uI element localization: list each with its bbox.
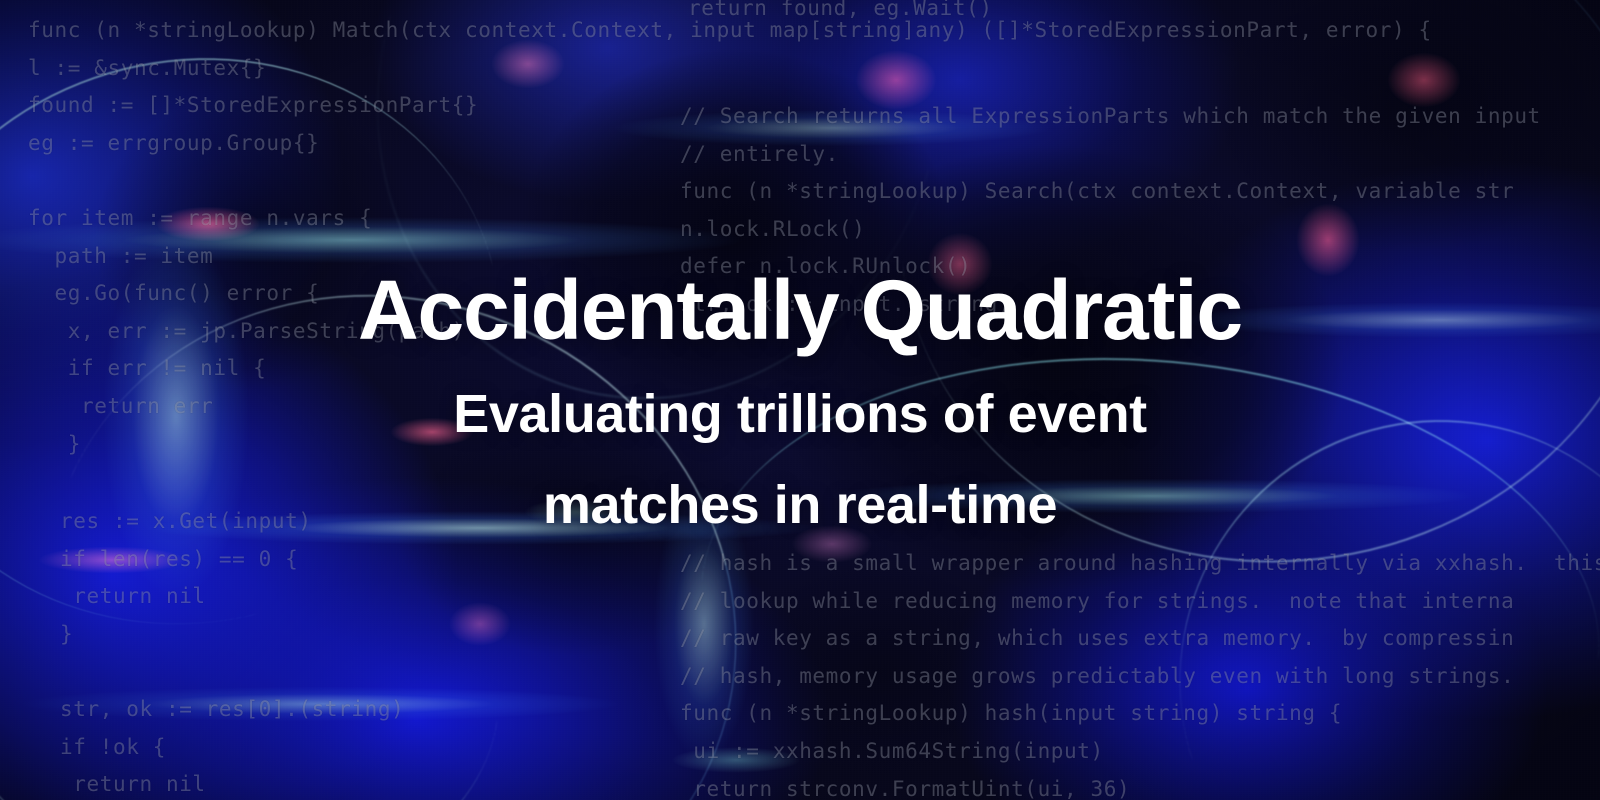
title-block: Accidentally Quadratic Evaluating trilli… [0,0,1600,800]
subtitle-line-2: matches in real-time [543,478,1057,532]
subtitle-line-1: Evaluating trillions of event [453,387,1147,441]
title-card: func (n *stringLookup) Match(ctx context… [0,0,1600,800]
page-title: Accidentally Quadratic [358,268,1242,354]
